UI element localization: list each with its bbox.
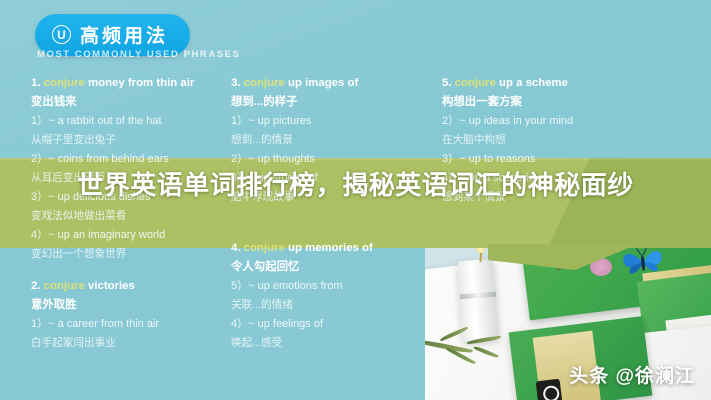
entry-number: 4. bbox=[231, 242, 241, 254]
watermark: 头条 @徐澜江 bbox=[569, 361, 695, 388]
sub-phrase-en: 5）~ up emotions from bbox=[231, 277, 426, 296]
sub-phrase-cn: 白手起家闯出事业 bbox=[31, 334, 226, 353]
entry-translation: 构想出一套方案 bbox=[442, 93, 642, 112]
entry-keyword: conjure bbox=[244, 77, 285, 89]
entry-keyword: conjure bbox=[44, 77, 85, 89]
phrase-column-1: 1. conjure money from thin air 变出钱来 1）~ … bbox=[31, 74, 226, 355]
sub-phrase-en: 2）~ up ideas in your mind bbox=[442, 112, 642, 131]
entry-head-rest: victories bbox=[88, 280, 135, 292]
entry-translation: 想到...的样子 bbox=[231, 93, 426, 112]
entry-head-rest: money from thin air bbox=[88, 77, 194, 89]
sub-phrase-cn: 从帽子里变出兔子 bbox=[31, 131, 226, 150]
sub-phrase-en: 1）~ a rabbit out of the hat bbox=[31, 112, 226, 131]
entry-translation: 令人勾起回忆 bbox=[231, 258, 426, 277]
entry-keyword: conjure bbox=[244, 242, 285, 254]
phrase-entry: 4. conjure up memories of 令人勾起回忆 5）~ up … bbox=[231, 239, 426, 353]
sub-phrase-en: 4）~ up an imaginary world bbox=[31, 226, 226, 245]
entry-heading: 1. conjure money from thin air bbox=[31, 74, 226, 93]
sub-phrase-cn: 关联...的情绪 bbox=[231, 296, 426, 315]
entry-gap bbox=[231, 209, 426, 239]
entry-keyword: conjure bbox=[455, 77, 496, 89]
entry-translation: 变出钱来 bbox=[31, 93, 226, 112]
entry-heading: 4. conjure up memories of bbox=[231, 239, 426, 258]
sub-phrase-cn: 在大脑中构想 bbox=[442, 131, 642, 150]
entry-head-rest: up memories of bbox=[288, 242, 373, 254]
entry-keyword: conjure bbox=[44, 280, 85, 292]
entry-number: 5. bbox=[442, 77, 452, 89]
entry-heading: 2. conjure victories bbox=[31, 277, 226, 296]
sub-phrase-cn: 变戏法似地做出菜肴 bbox=[31, 207, 226, 226]
sub-phrase-cn: 变幻出一个想象世界 bbox=[31, 245, 226, 264]
entry-gap bbox=[31, 266, 226, 277]
entry-number: 2. bbox=[31, 280, 41, 292]
sub-phrase-en: 4）~ up feelings of bbox=[231, 315, 426, 334]
sub-phrase-cn: 想到...的情景 bbox=[231, 131, 426, 150]
entry-translation: 意外取胜 bbox=[31, 296, 226, 315]
entry-number: 3. bbox=[231, 77, 241, 89]
screenshot-root: U 高频用法 MOST COMMONLY USED PHRASES 1. con… bbox=[0, 0, 711, 400]
entry-heading: 5. conjure up a scheme bbox=[442, 74, 642, 93]
entry-head-rest: up a scheme bbox=[499, 77, 568, 89]
entry-number: 1. bbox=[31, 77, 41, 89]
overlay-headline: 世界英语单词排行榜，揭秘英语词汇的神秘面纱 bbox=[0, 166, 711, 204]
entry-head-rest: up images of bbox=[288, 77, 358, 89]
phrase-entry: 2. conjure victories 意外取胜 1）~ a career f… bbox=[31, 277, 226, 353]
phrase-column-2: 3. conjure up images of 想到...的样子 1）~ up … bbox=[231, 74, 426, 355]
sub-phrase-cn: 唤起...感受 bbox=[231, 334, 426, 353]
sub-phrase-en: 1）~ a career from thin air bbox=[31, 315, 226, 334]
sub-phrase-en: 1）~ up pictures bbox=[231, 112, 426, 131]
entry-heading: 3. conjure up images of bbox=[231, 74, 426, 93]
